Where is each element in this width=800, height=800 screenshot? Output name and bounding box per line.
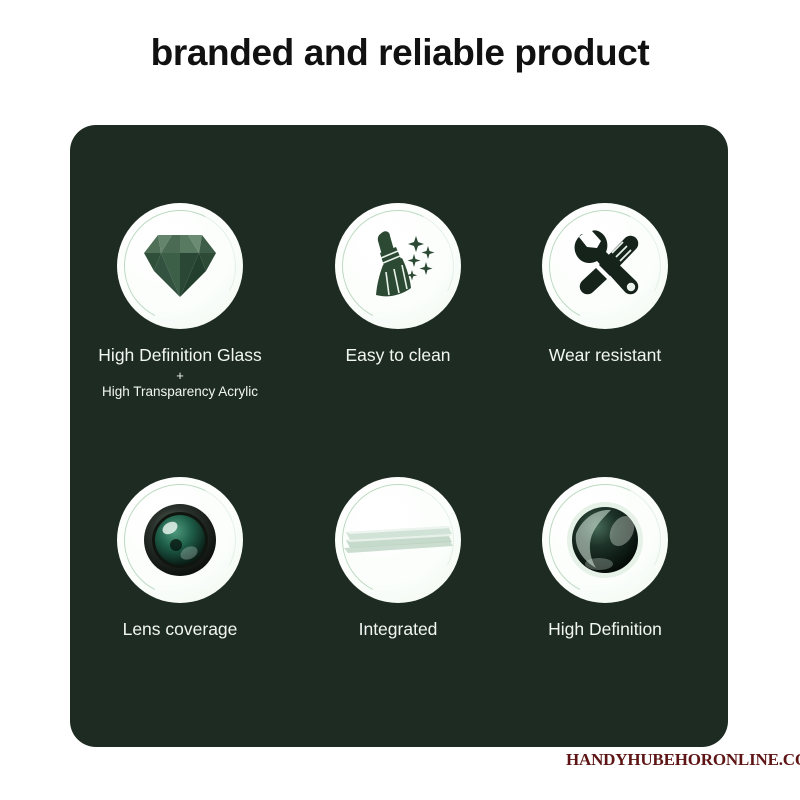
diamond-icon: [117, 203, 243, 329]
feature-label-main: Wear resistant: [505, 345, 705, 366]
broom-sparkle-icon: [335, 203, 461, 329]
icon-circle: [542, 477, 668, 603]
icon-circle: [117, 203, 243, 329]
icon-circle: [542, 203, 668, 329]
icon-circle: [117, 477, 243, 603]
feature-item-high-definition-glass: High Definition Glass + High Transparenc…: [80, 203, 280, 400]
feature-item-lens-coverage: Lens coverage: [80, 477, 280, 640]
camera-lens-icon: [117, 477, 243, 603]
feature-label-main: Integrated: [298, 619, 498, 640]
feature-label: High Definition: [505, 619, 705, 640]
feature-label: Wear resistant: [505, 345, 705, 366]
feature-item-wear-resistant: Wear resistant: [505, 203, 705, 366]
feature-label-plus: +: [80, 368, 280, 383]
feature-item-high-definition: High Definition: [505, 477, 705, 640]
feature-card: High Definition Glass + High Transparenc…: [70, 125, 728, 747]
feature-label: Easy to clean: [298, 345, 498, 366]
glossy-dome-icon: [542, 477, 668, 603]
icon-circle: [335, 477, 461, 603]
glass-layers-icon: [335, 477, 461, 603]
icon-circle: [335, 203, 461, 329]
feature-grid: High Definition Glass + High Transparenc…: [70, 125, 728, 747]
feature-item-easy-to-clean: Easy to clean: [298, 203, 498, 366]
feature-label: High Definition Glass + High Transparenc…: [80, 345, 280, 400]
feature-label-main: High Definition Glass: [80, 345, 280, 366]
feature-label-main: Lens coverage: [80, 619, 280, 640]
page-title: branded and reliable product: [0, 32, 800, 74]
wrench-screwdriver-icon: [542, 203, 668, 329]
feature-label-sub: High Transparency Acrylic: [80, 384, 280, 400]
feature-item-integrated: Integrated: [298, 477, 498, 640]
feature-label-main: Easy to clean: [298, 345, 498, 366]
feature-label: Lens coverage: [80, 619, 280, 640]
feature-label: Integrated: [298, 619, 498, 640]
feature-label-main: High Definition: [505, 619, 705, 640]
site-watermark: HANDYHUBEHORONLINE.COM: [566, 750, 800, 770]
